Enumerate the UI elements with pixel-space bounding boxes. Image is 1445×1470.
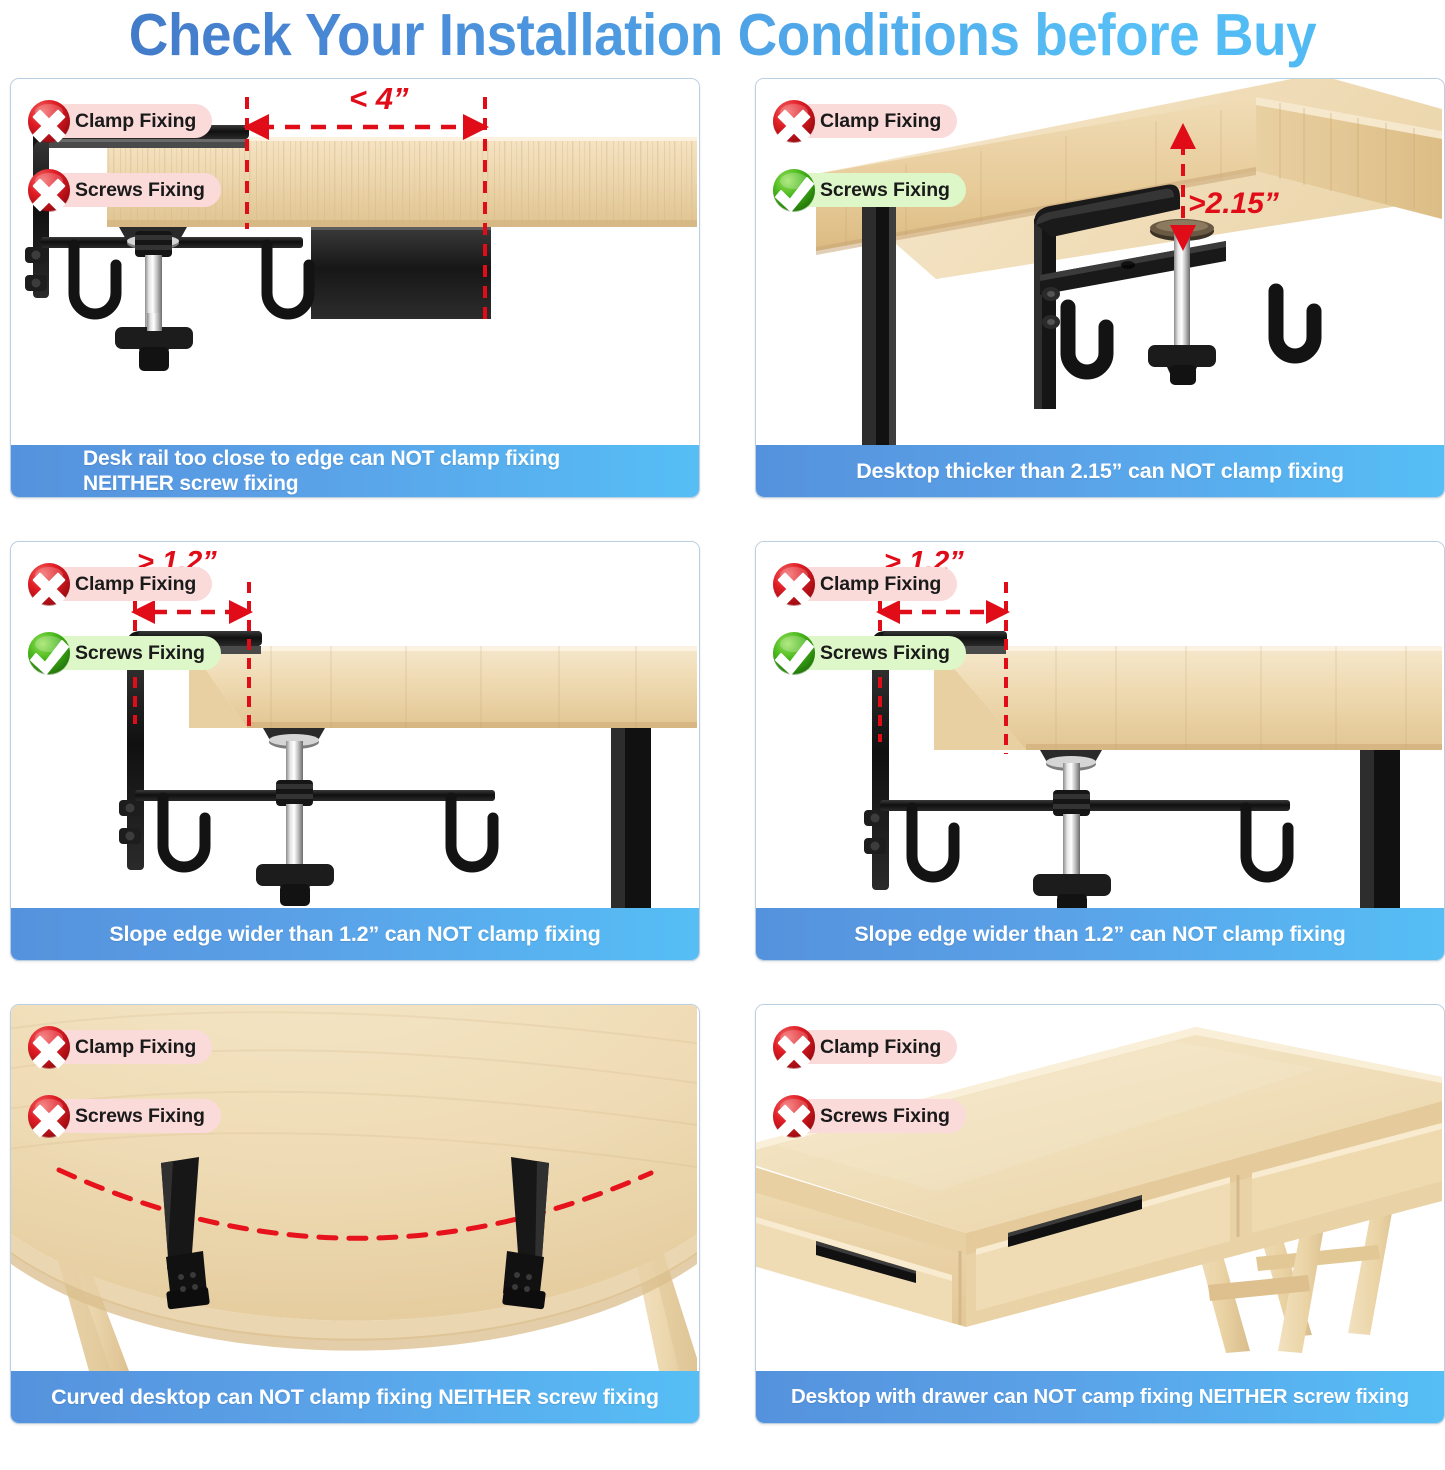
cross-icon — [25, 166, 73, 214]
panel-desk-with-drawer: Clamp Fixing Screws Fixing Desktop with … — [755, 1004, 1445, 1424]
badge-group: Clamp Fixing Screws Fixing — [770, 97, 966, 235]
badge-clamp-fixing: Clamp Fixing — [770, 560, 966, 608]
panel-caption: Slope edge wider than 1.2” can NOT clamp… — [11, 908, 699, 960]
conditions-grid: < 4” Clamp Fixing — [0, 70, 1445, 1424]
badge-screws-fixing: Screws Fixing — [25, 1092, 221, 1140]
badge-clamp-fixing: Clamp Fixing — [25, 97, 221, 145]
panel-caption: Slope edge wider than 1.2” can NOT clamp… — [756, 908, 1444, 960]
panel-desktop-thickness: >2.15” Clamp Fixing — [755, 78, 1445, 498]
cross-icon — [25, 560, 73, 608]
badge-group: Clamp Fixing Screws Fixing — [25, 1023, 221, 1161]
dimension-label-4in: < 4” — [349, 81, 408, 117]
check-icon — [770, 629, 818, 677]
panel-caption: Desk rail too close to edge can NOT clam… — [11, 445, 699, 497]
badge-screws-fixing: Screws Fixing — [770, 629, 966, 677]
panel-slope-edge-left: > 1.2” Clamp Fixing — [10, 541, 700, 961]
panel-curved-desktop: Clamp Fixing Screws Fixing Curved deskto… — [10, 1004, 700, 1424]
badge-clamp-fixing: Clamp Fixing — [25, 560, 221, 608]
badge-clamp-fixing: Clamp Fixing — [770, 97, 966, 145]
cross-icon — [25, 1023, 73, 1071]
check-icon — [770, 166, 818, 214]
badge-clamp-fixing: Clamp Fixing — [25, 1023, 221, 1071]
badge-clamp-fixing: Clamp Fixing — [770, 1023, 966, 1071]
badge-screws-fixing: Screws Fixing — [25, 166, 221, 214]
badge-group: Clamp Fixing Screws Fixing — [25, 560, 221, 698]
panel-slope-edge-right: > 1.2” Clamp Fixing — [755, 541, 1445, 961]
panel-caption: Curved desktop can NOT clamp fixing NEIT… — [11, 1371, 699, 1423]
cross-icon — [25, 1092, 73, 1140]
check-icon — [25, 629, 73, 677]
badge-group: Clamp Fixing Screws Fixing — [25, 97, 221, 235]
panel-caption: Desktop thicker than 2.15” can NOT clamp… — [756, 445, 1444, 497]
cross-icon — [770, 1092, 818, 1140]
cross-icon — [770, 1023, 818, 1071]
panel-caption: Desktop with drawer can NOT camp fixing … — [756, 1371, 1444, 1423]
cross-icon — [25, 97, 73, 145]
badge-screws-fixing: Screws Fixing — [770, 166, 966, 214]
page-title: Check Your Installation Conditions befor… — [51, 0, 1395, 70]
badge-screws-fixing: Screws Fixing — [770, 1092, 966, 1140]
panel-desk-rail-edge: < 4” Clamp Fixing — [10, 78, 700, 498]
caption-line-1: Desk rail too close to edge can NOT clam… — [83, 447, 560, 470]
dimension-label-2-15in: >2.15” — [1188, 187, 1279, 221]
badge-group: Clamp Fixing Screws Fixing — [770, 560, 966, 698]
cross-icon — [770, 97, 818, 145]
cross-icon — [770, 560, 818, 608]
caption-line-2: NEITHER screw fixing — [83, 472, 298, 495]
badge-screws-fixing: Screws Fixing — [25, 629, 221, 677]
badge-group: Clamp Fixing Screws Fixing — [770, 1023, 966, 1161]
